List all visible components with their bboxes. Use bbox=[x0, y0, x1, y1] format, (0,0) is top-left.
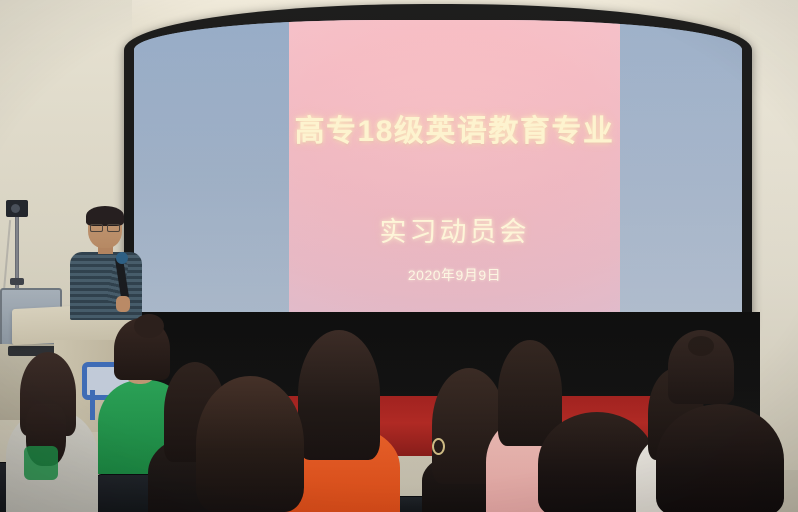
presenter-at-podium bbox=[66, 208, 146, 320]
audience-hair bbox=[298, 330, 380, 460]
audience-hair-bun bbox=[134, 314, 164, 338]
projection-screen-surface: 高专18级英语教育专业 实习动员会 2020年9月9日 bbox=[134, 20, 742, 318]
slide-date: 2020年9月9日 bbox=[408, 265, 501, 285]
slide-subtitle: 实习动员会 bbox=[380, 210, 530, 249]
projected-slide: 高专18级英语教育专业 实习动员会 2020年9月9日 bbox=[289, 20, 620, 318]
glasses-icon bbox=[90, 224, 120, 230]
lecture-hall-photo: 高专18级英语教育专业 实习动员会 2020年9月9日 bbox=[0, 0, 798, 512]
tripod-knob bbox=[10, 278, 24, 285]
audience-hair-ponytail bbox=[688, 336, 714, 356]
list-item bbox=[196, 376, 308, 512]
earring-icon bbox=[432, 438, 445, 455]
screen-panel-left bbox=[134, 20, 289, 318]
slide-title: 高专18级英语教育专业 bbox=[295, 106, 615, 150]
presenter-hair bbox=[86, 206, 124, 226]
camera-icon bbox=[6, 200, 28, 217]
audience-hair bbox=[196, 376, 304, 512]
list-item bbox=[6, 352, 92, 512]
audience-hair bbox=[656, 404, 784, 512]
list-item bbox=[656, 404, 788, 512]
microphone-head bbox=[116, 252, 128, 264]
presenter-torso bbox=[70, 252, 142, 320]
screen-panel-right bbox=[620, 20, 742, 318]
presenter-hand bbox=[116, 296, 130, 312]
projection-screen-frame: 高专18级英语教育专业 实习动员会 2020年9月9日 bbox=[124, 4, 752, 334]
shirt-graphic bbox=[24, 446, 58, 480]
